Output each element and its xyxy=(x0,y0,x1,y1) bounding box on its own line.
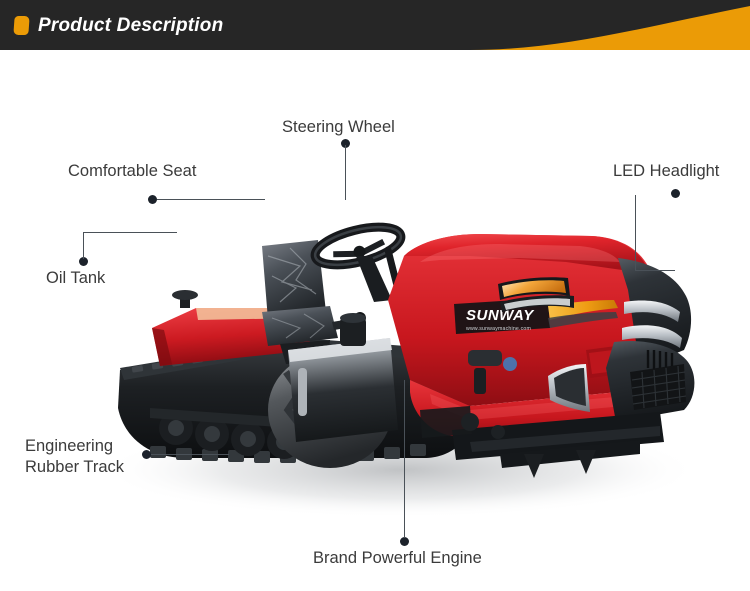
callout-leader-comfortable-seat xyxy=(157,199,265,200)
svg-text:www.sunwaymachine.com: www.sunwaymachine.com xyxy=(466,326,531,332)
callout-label-brand-powerful-engine: Brand Powerful Engine xyxy=(313,548,482,569)
page-title: Product Description xyxy=(38,14,223,38)
callout-label-led-headlight: LED Headlight xyxy=(613,161,719,182)
callout-label-steering-wheel: Steering Wheel xyxy=(282,117,395,138)
callout-leader-brand-powerful-engine xyxy=(404,380,405,538)
header-badge-icon xyxy=(13,16,29,35)
callout-dot-engineering-rubber-track xyxy=(142,450,151,459)
svg-text:SUNWAY: SUNWAY xyxy=(466,307,535,324)
callout-label-engineering-rubber-track-line1: Engineering xyxy=(25,436,113,457)
callout-label-engineering-rubber-track-line2: Rubber Track xyxy=(25,457,124,478)
product-image-stage: SUNWAY www.sunwaymachine.com xyxy=(0,50,750,591)
callout-leader-led-headlight xyxy=(635,195,675,271)
callout-leader-oil-tank xyxy=(83,232,177,259)
callout-leader-steering-wheel xyxy=(345,145,346,200)
product-description-page: Product Description xyxy=(0,0,750,591)
callout-dot-comfortable-seat xyxy=(148,195,157,204)
callout-label-oil-tank: Oil Tank xyxy=(46,268,105,289)
callout-leader-engineering-rubber-track xyxy=(151,454,229,455)
callout-dot-brand-powerful-engine xyxy=(400,537,409,546)
header-banner: Product Description xyxy=(0,0,750,50)
callout-label-comfortable-seat: Comfortable Seat xyxy=(68,161,196,182)
